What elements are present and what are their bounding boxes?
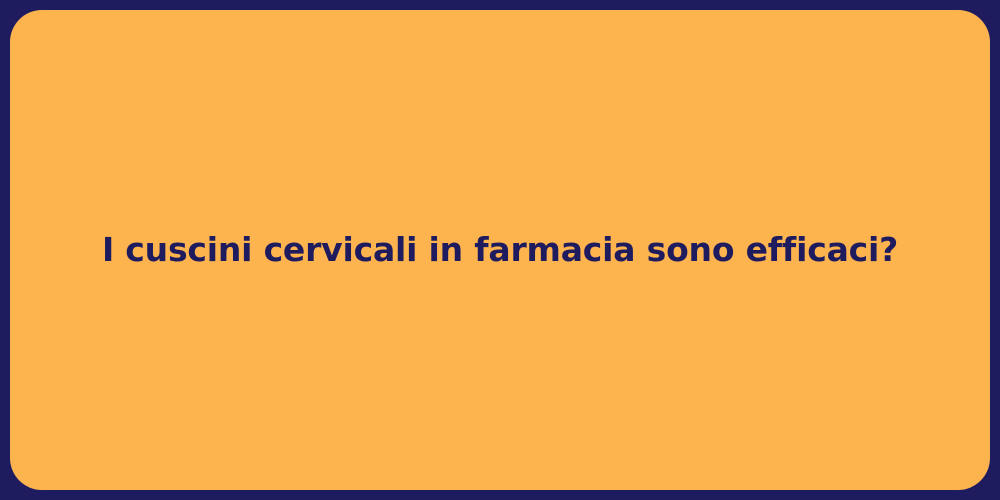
- headline-card: I cuscini cervicali in farmacia sono eff…: [10, 10, 990, 490]
- page-background: I cuscini cervicali in farmacia sono eff…: [0, 0, 1000, 500]
- page-title: I cuscini cervicali in farmacia sono eff…: [62, 229, 938, 270]
